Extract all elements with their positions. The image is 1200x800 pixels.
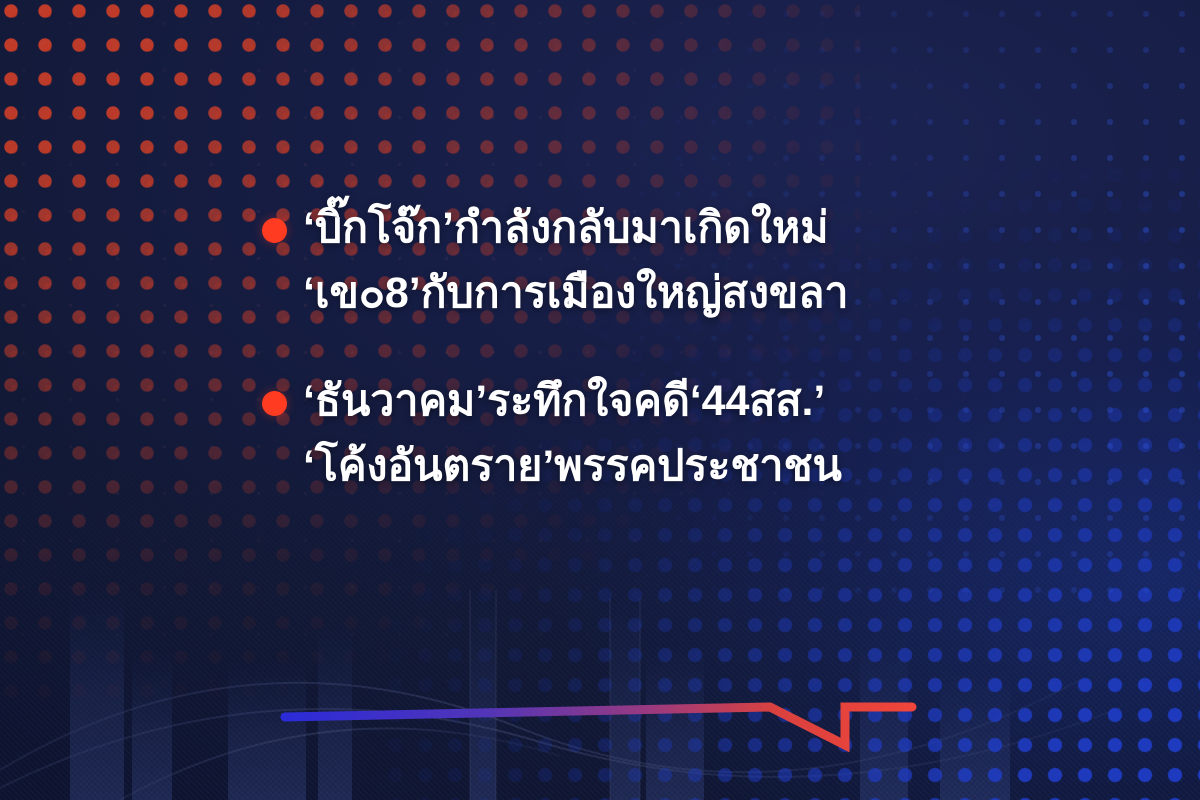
headline-line: ‘บิ๊กโจ๊ก’กำลังกลับมาเกิดใหม่ bbox=[303, 196, 848, 261]
headline-item[interactable]: ‘บิ๊กโจ๊ก’กำลังกลับมาเกิดใหม่ ‘เข๐8’กับก… bbox=[262, 196, 962, 327]
headline-line: ‘โค้งอันตราย’พรรคประชาชน bbox=[303, 434, 842, 499]
headline-text: ‘ธันวาคม’ระทึกใจคดี‘44สส.’ ‘โค้งอันตราย’… bbox=[303, 369, 842, 500]
headline-list: ‘บิ๊กโจ๊ก’กำลังกลับมาเกิดใหม่ ‘เข๐8’กับก… bbox=[262, 196, 962, 499]
headline-text: ‘บิ๊กโจ๊ก’กำลังกลับมาเกิดใหม่ ‘เข๐8’กับก… bbox=[303, 196, 848, 327]
bullet-dot-icon bbox=[262, 218, 287, 243]
news-headline-card: ‘บิ๊กโจ๊ก’กำลังกลับมาเกิดใหม่ ‘เข๐8’กับก… bbox=[0, 0, 1200, 800]
headline-line: ‘เข๐8’กับการเมืองใหญ่สงขลา bbox=[303, 261, 848, 326]
trend-line-graphic bbox=[0, 680, 1200, 800]
bullet-dot-icon bbox=[262, 391, 287, 416]
headline-item[interactable]: ‘ธันวาคม’ระทึกใจคดี‘44สส.’ ‘โค้งอันตราย’… bbox=[262, 369, 962, 500]
headline-line: ‘ธันวาคม’ระทึกใจคดี‘44สส.’ bbox=[303, 369, 842, 434]
